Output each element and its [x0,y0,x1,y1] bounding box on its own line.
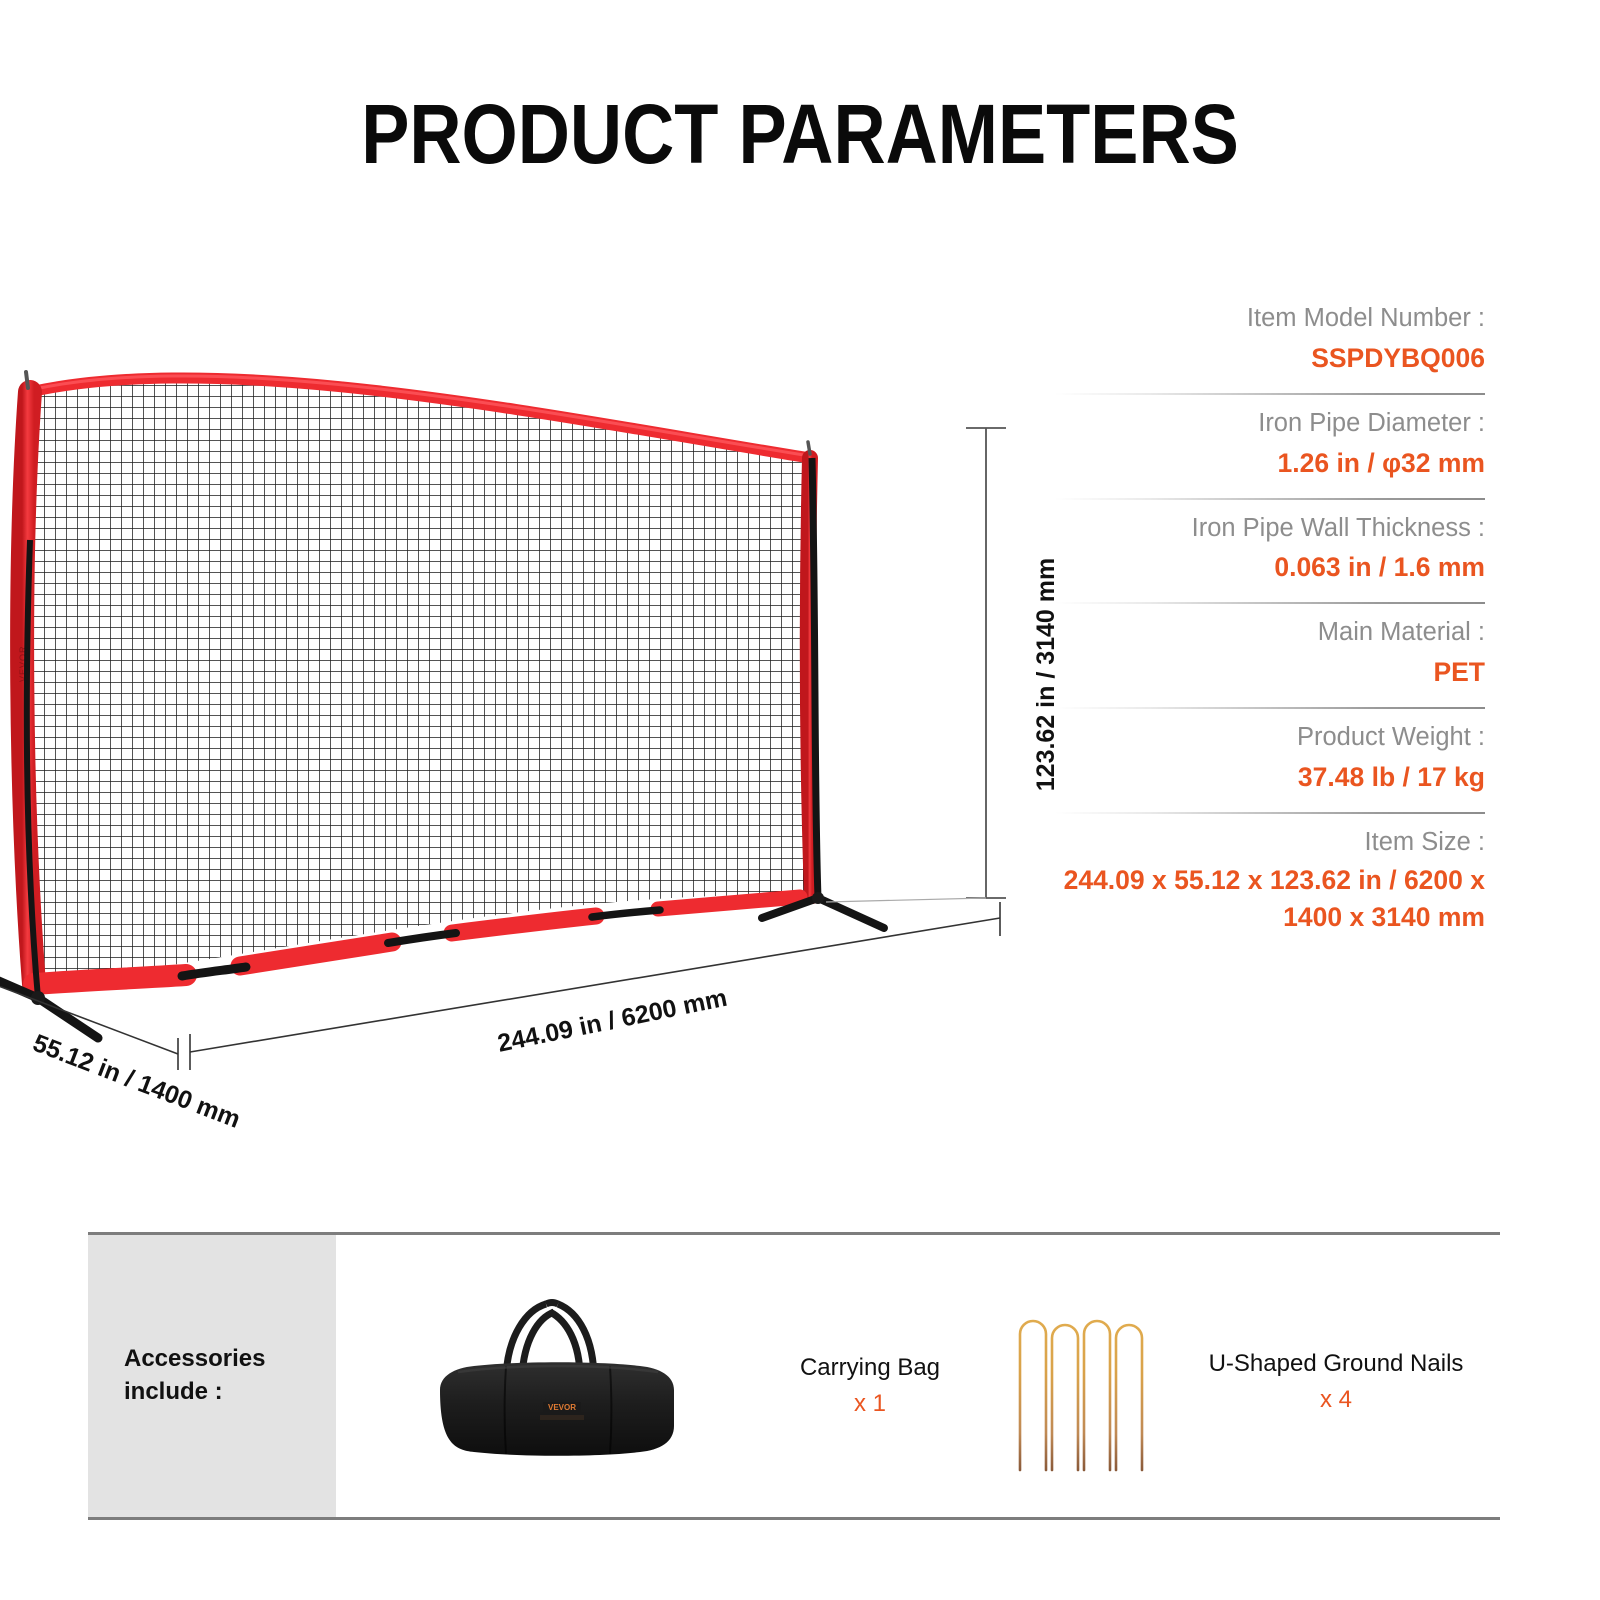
carrying-bag-icon: VEVOR [388,1280,728,1480]
spec-row-product-weight: Product Weight : 37.48 lb / 17 kg [1055,719,1485,804]
accessory-carrying-bag: VEVOR Carrying Bag x 1 [388,1280,728,1480]
right-pole-tip [808,442,810,454]
ground-nails-name: U-Shaped Ground Nails [1176,1346,1496,1382]
spec-label-pipe-diameter: Iron Pipe Diameter : [1055,405,1485,443]
spec-row-main-material: Main Material : PET [1055,614,1485,699]
spec-row-item-size: Item Size : 244.09 x 55.12 x 123.62 in /… [1055,824,1485,943]
spec-value-item-size: 244.09 x 55.12 x 123.62 in / 6200 x 1400… [1055,862,1485,937]
spec-row-wall-thickness: Iron Pipe Wall Thickness : 0.063 in / 1.… [1055,510,1485,595]
spec-row-pipe-diameter: Iron Pipe Diameter : 1.26 in / φ32 mm [1055,405,1485,490]
spec-row-model: Item Model Number : SSPDYBQ006 [1055,300,1485,385]
accessories-bottom-rule [88,1517,1500,1520]
spec-label-main-material: Main Material : [1055,614,1485,652]
bag-brand-text: VEVOR [548,1403,576,1412]
net-mesh [0,330,1040,1130]
accessories-label: Accessories include : [124,1342,265,1408]
spec-label-item-size: Item Size : [1055,824,1485,862]
accessories-label-line1: Accessories [124,1342,265,1375]
accessories-label-line2: include : [124,1375,265,1408]
ground-nails-caption: U-Shaped Ground Nails x 4 [1176,1346,1496,1418]
left-pole-tip [26,372,28,388]
accessories-section: Accessories include : [88,1232,1500,1520]
spec-divider-2 [1055,498,1485,500]
spec-value-wall-thickness: 0.063 in / 1.6 mm [1055,547,1485,588]
spec-divider-1 [1055,393,1485,395]
spec-divider-5 [1055,812,1485,814]
spec-divider-4 [1055,707,1485,709]
spec-label-wall-thickness: Iron Pipe Wall Thickness : [1055,510,1485,548]
height-extension-line [826,898,986,902]
spec-label-model: Item Model Number : [1055,300,1485,338]
accessory-ground-nails: U-Shaped Ground Nails x 4 [948,1274,1248,1484]
height-dimension-line [966,428,1006,898]
spec-divider-3 [1055,602,1485,604]
product-illustration: VEVOR [0,330,1040,1130]
ground-nails-qty: x 4 [1176,1382,1496,1418]
spec-value-product-weight: 37.48 lb / 17 kg [1055,757,1485,798]
page-title: PRODUCT PARAMETERS [112,92,1488,176]
spec-value-model: SSPDYBQ006 [1055,338,1485,379]
spec-value-main-material: PET [1055,652,1485,693]
spec-value-pipe-diameter: 1.26 in / φ32 mm [1055,443,1485,484]
product-parameters-page: PRODUCT PARAMETERS [0,0,1600,1600]
specification-table: Item Model Number : SSPDYBQ006 Iron Pipe… [1055,300,1485,943]
spec-label-product-weight: Product Weight : [1055,719,1485,757]
